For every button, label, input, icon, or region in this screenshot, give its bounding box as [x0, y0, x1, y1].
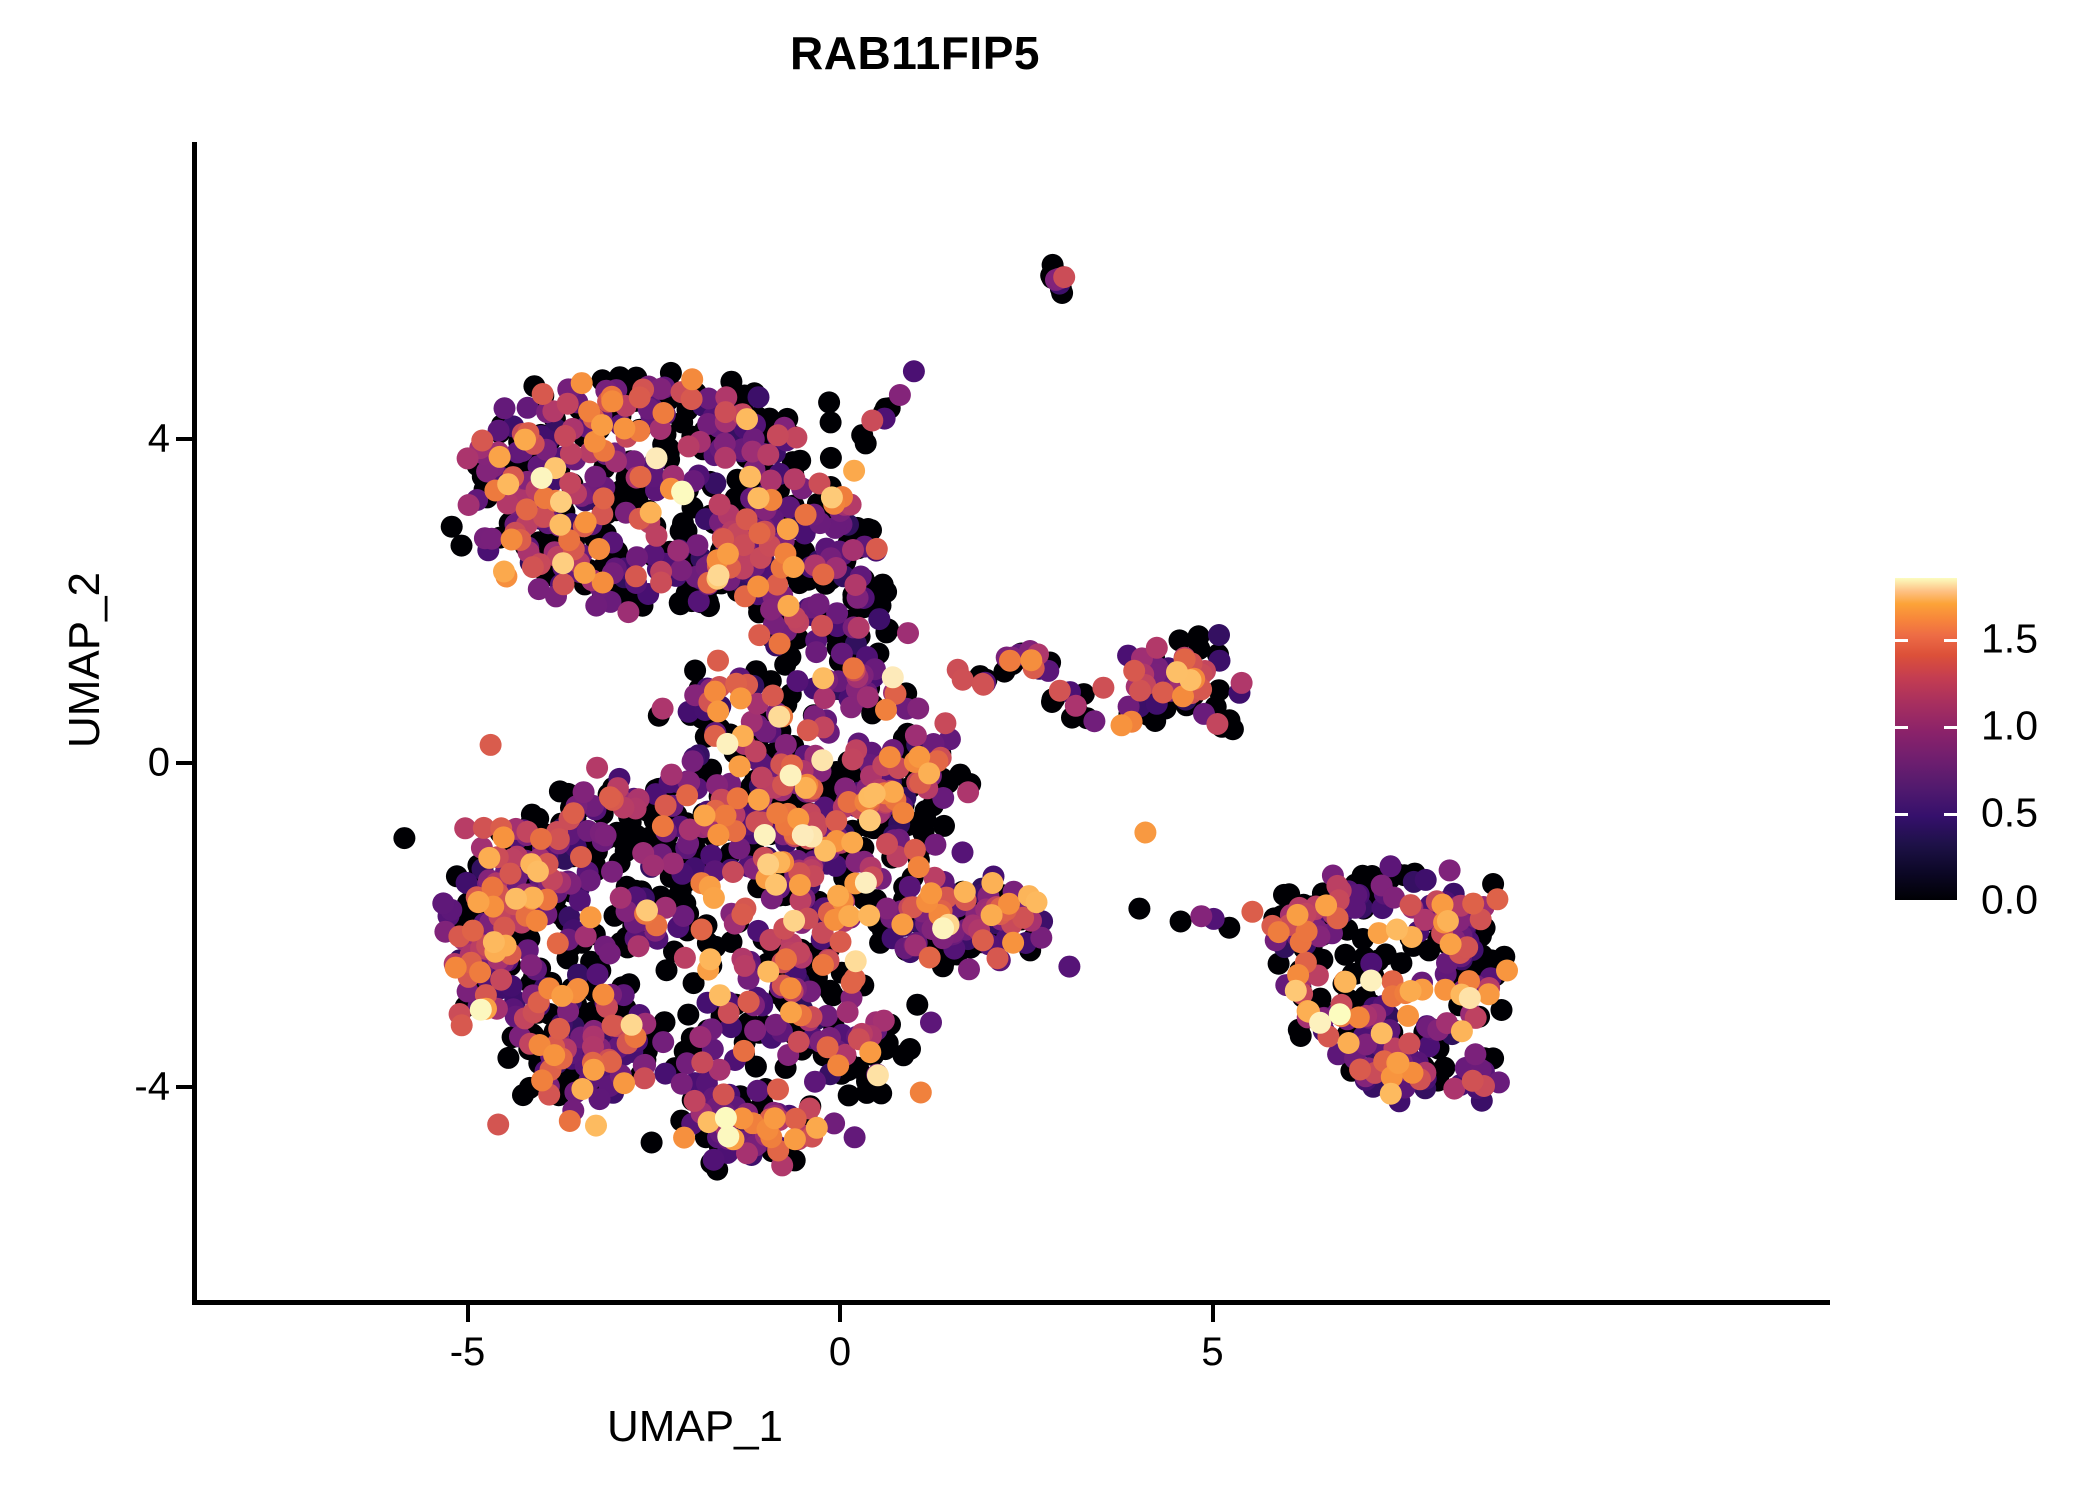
scatter-point	[655, 795, 677, 817]
scatter-point	[879, 746, 901, 768]
scatter-point	[907, 698, 929, 720]
scatter-point	[757, 444, 779, 466]
scatter-point	[757, 853, 779, 875]
scatter-point	[795, 504, 817, 526]
colorbar-tick-mark	[1895, 813, 1908, 816]
scatter-point	[910, 1082, 932, 1104]
scatter-point	[729, 755, 751, 777]
scatter-point	[906, 994, 928, 1016]
scatter-point	[972, 929, 994, 951]
scatter-point	[626, 546, 648, 568]
scatter-point	[493, 826, 515, 848]
scatter-point	[1329, 1003, 1351, 1025]
scatter-point	[530, 828, 552, 850]
scatter-point	[812, 954, 834, 976]
scatter-point	[1335, 971, 1357, 993]
scatter-point	[1451, 1020, 1473, 1042]
scatter-point	[691, 1051, 713, 1073]
scatter-point	[531, 1069, 553, 1091]
scatter-point	[762, 685, 784, 707]
scatter-point	[1459, 987, 1481, 1009]
scatter-point	[480, 734, 502, 756]
scatter-point	[1388, 1052, 1410, 1074]
x-tick-label: -5	[408, 1330, 528, 1375]
figure-root: RAB11FIP5 40-4-505 UMAP_1 UMAP_2 1.51.00…	[0, 0, 2100, 1500]
scatter-point	[633, 1067, 655, 1089]
scatter-point	[866, 538, 888, 560]
scatter-point	[1166, 661, 1188, 683]
scatter-point	[1380, 1083, 1402, 1105]
scatter-point	[481, 528, 503, 550]
scatter-point	[1400, 894, 1422, 916]
scatter-point	[1360, 970, 1382, 992]
scatter-point	[703, 1149, 725, 1171]
scatter-point	[642, 855, 664, 877]
scatter-point	[769, 633, 791, 655]
scatter-point	[933, 815, 955, 837]
scatter-point	[601, 390, 623, 412]
scatter-point	[684, 660, 706, 682]
scatter-point	[625, 565, 647, 587]
scatter-plot-canvas	[0, 0, 2100, 1500]
colorbar-tick-mark	[1944, 813, 1957, 816]
scatter-point	[554, 425, 576, 447]
scatter-point	[585, 595, 607, 617]
scatter-point	[972, 674, 994, 696]
scatter-point	[932, 917, 954, 939]
scatter-point	[601, 861, 623, 883]
scatter-point	[593, 487, 615, 509]
scatter-point	[717, 1126, 739, 1148]
scatter-point	[674, 947, 696, 969]
colorbar-tick-label: 0.5	[1981, 789, 2038, 836]
scatter-point	[952, 669, 974, 691]
scatter-point	[999, 650, 1021, 672]
scatter-point	[857, 686, 879, 708]
scatter-point	[468, 891, 490, 913]
scatter-point	[585, 1115, 607, 1137]
scatter-point	[671, 481, 693, 503]
scatter-point	[841, 972, 863, 994]
scatter-point	[722, 861, 744, 883]
scatter-point	[845, 950, 867, 972]
scatter-point	[497, 473, 519, 495]
scatter-point	[899, 876, 921, 898]
scatter-point	[780, 977, 802, 999]
scatter-point	[1049, 680, 1071, 702]
scatter-point	[864, 783, 886, 805]
scatter-point	[787, 670, 809, 692]
scatter-point	[806, 1117, 828, 1139]
scatter-point	[767, 424, 789, 446]
scatter-point	[812, 564, 834, 586]
scatter-point	[571, 372, 593, 394]
scatter-point	[708, 564, 730, 586]
scatter-point	[493, 561, 515, 583]
scatter-point	[1285, 980, 1307, 1002]
scatter-point	[602, 1015, 624, 1037]
scatter-point	[748, 386, 770, 408]
scatter-point	[1309, 1012, 1331, 1034]
scatter-point	[445, 957, 467, 979]
scatter-point	[738, 991, 760, 1013]
scatter-point	[715, 1107, 737, 1129]
scatter-point	[1190, 905, 1212, 927]
scatter-point	[767, 1078, 789, 1100]
scatter-point	[681, 388, 703, 410]
scatter-point	[780, 764, 802, 786]
scatter-point	[552, 552, 574, 574]
scatter-point	[599, 943, 621, 965]
colorbar-legend: 1.51.00.50.0	[1895, 578, 1957, 900]
scatter-point	[703, 887, 725, 909]
scatter-point	[494, 397, 516, 419]
scatter-point	[694, 805, 716, 827]
scatter-point	[715, 805, 737, 827]
scatter-point	[469, 961, 491, 983]
scatter-point	[462, 920, 484, 942]
scatter-point	[920, 882, 942, 904]
scatter-point	[714, 447, 736, 469]
scatter-point	[841, 832, 863, 854]
scatter-point	[783, 556, 805, 578]
scatter-point	[1128, 898, 1150, 920]
scatter-point	[656, 959, 678, 981]
scatter-point	[733, 1040, 755, 1062]
scatter-point	[766, 802, 788, 824]
y-axis-title: UMAP_2	[60, 400, 110, 920]
scatter-point	[731, 904, 753, 926]
scatter-point	[1058, 956, 1080, 978]
scatter-point	[1496, 960, 1518, 982]
scatter-point	[574, 562, 596, 584]
scatter-point	[785, 1108, 807, 1130]
scatter-point	[751, 767, 773, 789]
scatter-point	[681, 368, 703, 390]
scatter-point	[812, 667, 834, 689]
scatter-point	[954, 881, 976, 903]
scatter-point	[640, 502, 662, 524]
scatter-point	[1486, 888, 1508, 910]
scatter-point	[1123, 660, 1145, 682]
scatter-point	[747, 1080, 769, 1102]
x-axis-line	[192, 1300, 1830, 1305]
scatter-point	[570, 846, 592, 868]
scatter-point	[527, 861, 549, 883]
scatter-point	[919, 947, 941, 969]
scatter-point	[662, 853, 684, 875]
scatter-point	[868, 608, 890, 630]
x-tick-label: 5	[1153, 1330, 1273, 1375]
scatter-point	[575, 925, 597, 947]
scatter-point	[595, 824, 617, 846]
y-tick-mark	[176, 1085, 192, 1089]
scatter-point	[845, 574, 867, 596]
scatter-point	[821, 486, 843, 508]
colorbar-tick-mark	[1895, 726, 1908, 729]
scatter-point	[858, 905, 880, 927]
scatter-point	[520, 954, 542, 976]
scatter-point	[1415, 869, 1437, 891]
colorbar-tick-mark	[1944, 900, 1957, 903]
scatter-point	[749, 522, 771, 544]
scatter-point	[958, 958, 980, 980]
scatter-point	[573, 781, 595, 803]
scatter-point	[785, 427, 807, 449]
scatter-point	[778, 595, 800, 617]
scatter-point	[500, 863, 522, 885]
scatter-point	[652, 1031, 674, 1053]
scatter-point	[1371, 1022, 1393, 1044]
scatter-point	[1026, 891, 1048, 913]
scatter-point	[1398, 1033, 1420, 1055]
scatter-point	[470, 999, 492, 1021]
scatter-point	[1440, 933, 1462, 955]
scatter-point	[487, 1114, 509, 1136]
scatter-point	[516, 498, 538, 520]
colorbar-tick-label: 1.5	[1981, 615, 2038, 662]
scatter-point	[934, 712, 956, 734]
scatter-point	[571, 1078, 593, 1100]
scatter-point	[843, 460, 865, 482]
scatter-point	[715, 401, 737, 423]
y-tick-mark	[176, 761, 192, 765]
scatter-point	[784, 1128, 806, 1150]
scatter-point	[788, 1031, 810, 1053]
scatter-point	[820, 411, 842, 433]
scatter-point	[1478, 983, 1500, 1005]
scatter-point	[617, 601, 639, 623]
scatter-point	[1152, 682, 1174, 704]
scatter-point	[684, 1090, 706, 1112]
scatter-point	[432, 892, 454, 914]
scatter-point	[775, 948, 797, 970]
scatter-point	[497, 1047, 519, 1069]
scatter-point	[457, 447, 479, 469]
scatter-point	[621, 1014, 643, 1036]
scatter-point	[709, 984, 731, 1006]
scatter-point	[630, 466, 652, 488]
scatter-point	[1368, 922, 1390, 944]
scatter-point	[1462, 893, 1484, 915]
scatter-point	[891, 913, 913, 935]
colorbar-gradient	[1895, 578, 1957, 900]
scatter-point	[1092, 677, 1114, 699]
scatter-point	[579, 869, 601, 891]
scatter-point	[981, 904, 1003, 926]
scatter-point	[1268, 921, 1290, 943]
scatter-point	[689, 1026, 711, 1048]
scatter-point	[748, 487, 770, 509]
scatter-point	[918, 762, 940, 784]
scatter-point	[646, 525, 668, 547]
scatter-point	[1231, 672, 1253, 694]
scatter-point	[549, 514, 571, 536]
scatter-point	[587, 963, 609, 985]
y-tick-label: -4	[0, 1065, 170, 1110]
scatter-point	[531, 467, 553, 489]
scatter-point	[713, 1083, 735, 1105]
scatter-point	[1338, 1032, 1360, 1054]
scatter-point	[1146, 637, 1168, 659]
scatter-point	[805, 641, 827, 663]
scatter-point	[908, 856, 930, 878]
scatter-point	[1170, 911, 1192, 933]
scatter-point	[1111, 714, 1133, 736]
scatter-point	[610, 887, 632, 909]
scatter-point	[818, 391, 840, 413]
scatter-point	[548, 1018, 570, 1040]
scatter-point	[563, 802, 585, 824]
scatter-point	[557, 393, 579, 415]
scatter-point	[876, 833, 898, 855]
scatter-point	[543, 1044, 565, 1066]
scatter-point	[1349, 1059, 1371, 1081]
scatter-point	[827, 1054, 849, 1076]
scatter-point	[844, 1126, 866, 1148]
scatter-point	[748, 789, 770, 811]
scatter-point	[458, 494, 480, 516]
scatter-point	[559, 1110, 581, 1132]
scatter-point	[1208, 624, 1230, 646]
scatter-point	[528, 578, 550, 600]
scatter-point	[451, 535, 473, 557]
scatter-point	[592, 984, 614, 1006]
scatter-point	[768, 706, 790, 728]
scatter-point	[653, 402, 675, 424]
scatter-point	[1437, 910, 1459, 932]
scatter-point	[1020, 649, 1042, 671]
scatter-point	[699, 948, 721, 970]
scatter-point	[682, 750, 704, 772]
scatter-point	[827, 885, 849, 907]
scatter-point	[811, 749, 833, 771]
scatter-point	[575, 511, 597, 533]
scatter-point	[825, 810, 847, 832]
scatter-point	[981, 872, 1003, 894]
scatter-point	[1241, 901, 1263, 923]
scatter-point	[861, 410, 883, 432]
scatter-point	[522, 556, 544, 578]
scatter-point	[636, 899, 658, 921]
x-tick-mark	[838, 1305, 842, 1322]
scatter-point	[676, 784, 698, 806]
scatter-point	[855, 872, 877, 894]
colorbar-tick-mark	[1944, 726, 1957, 729]
colorbar-tick-label: 1.0	[1981, 702, 2038, 749]
scatter-point	[1397, 1005, 1419, 1027]
colorbar-tick-mark	[1895, 639, 1908, 642]
scatter-point	[588, 538, 610, 560]
colorbar-tick-label: 0.0	[1981, 877, 2038, 924]
scatter-point	[553, 573, 575, 595]
scatter-point	[838, 905, 860, 927]
scatter-point	[514, 429, 536, 451]
scatter-point	[842, 748, 864, 770]
scatter-point	[859, 809, 881, 831]
scatter-point	[580, 906, 602, 928]
scatter-point	[797, 719, 819, 741]
scatter-point	[903, 360, 925, 382]
scatter-point	[478, 847, 500, 869]
scatter-point	[1386, 919, 1408, 941]
scatter-point	[686, 534, 708, 556]
scatter-point	[777, 518, 799, 540]
scatter-point	[1334, 944, 1356, 966]
scatter-point	[1462, 1070, 1484, 1092]
scatter-point	[739, 466, 761, 488]
scatter-point	[661, 764, 683, 786]
scatter-point	[505, 888, 527, 910]
scatter-point	[629, 386, 651, 408]
scatter-point	[1464, 1043, 1486, 1065]
scatter-point	[471, 430, 493, 452]
scatter-point	[897, 622, 919, 644]
scatter-point	[882, 666, 904, 688]
y-axis-line	[192, 142, 197, 1305]
scatter-point	[591, 414, 613, 436]
scatter-point	[757, 961, 779, 983]
scatter-point	[526, 910, 548, 932]
scatter-point	[1002, 932, 1024, 954]
scatter-point	[584, 466, 606, 488]
scatter-point	[867, 1064, 889, 1086]
scatter-point	[441, 516, 463, 538]
scatter-point	[842, 539, 864, 561]
scatter-point	[709, 494, 731, 516]
scatter-point	[717, 543, 739, 565]
scatter-point	[599, 786, 621, 808]
scatter-point	[667, 540, 689, 562]
scatter-point	[646, 447, 668, 469]
scatter-point	[905, 725, 927, 747]
scatter-point	[924, 834, 946, 856]
scatter-point	[837, 1001, 859, 1023]
scatter-point	[792, 824, 814, 846]
scatter-point	[393, 827, 415, 849]
scatter-point	[677, 1004, 699, 1026]
scatter-point	[673, 1127, 695, 1149]
scatter-point	[1053, 266, 1075, 288]
x-tick-mark	[466, 1305, 470, 1322]
scatter-point	[650, 572, 672, 594]
scatter-point	[789, 874, 811, 896]
scatter-point	[784, 468, 806, 490]
scatter-point	[1206, 713, 1228, 735]
scatter-point	[783, 910, 805, 932]
scatter-point	[1433, 1057, 1455, 1079]
scatter-point	[848, 617, 870, 639]
scatter-point	[451, 1014, 473, 1036]
scatter-point	[920, 1012, 942, 1034]
scatter-point	[811, 615, 833, 637]
scatter-point	[583, 1059, 605, 1081]
scatter-point	[483, 931, 505, 953]
scatter-point	[613, 1072, 635, 1094]
scatter-point	[628, 935, 650, 957]
scatter-point	[780, 1001, 802, 1023]
scatter-point	[842, 657, 864, 679]
scatter-point	[734, 955, 756, 977]
scatter-point	[1134, 822, 1156, 844]
scatter-point	[987, 947, 1009, 969]
scatter-point	[670, 559, 692, 581]
scatter-point	[1065, 695, 1087, 717]
scatter-point	[691, 919, 713, 941]
scatter-point	[1439, 859, 1461, 881]
scatter-point	[736, 408, 758, 430]
scatter-point	[707, 824, 729, 846]
